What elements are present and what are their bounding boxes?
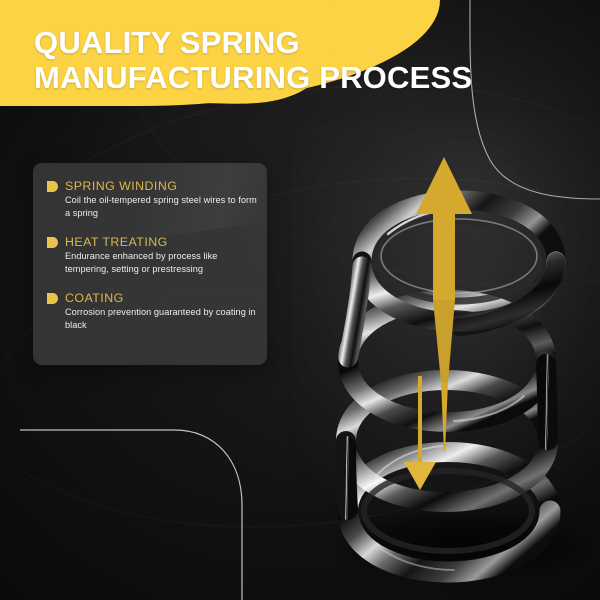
feature-heading-row: HEAT TREATING: [47, 235, 257, 249]
list-item[interactable]: SPRING WINDING Coil the oil-tempered spr…: [47, 179, 257, 220]
coil-spring-graphic: [318, 96, 600, 586]
feature-title: HEAT TREATING: [65, 235, 168, 249]
feature-heading-row: COATING: [47, 291, 257, 305]
bullet-marker-icon: [47, 293, 58, 304]
infographic-poster: QUALITY SPRING MANUFACTURING PROCESS: [0, 0, 600, 600]
feature-description: Endurance enhanced by process like tempe…: [65, 250, 257, 276]
page-title: QUALITY SPRING MANUFACTURING PROCESS: [34, 26, 504, 95]
title-line-1: QUALITY SPRING: [34, 26, 504, 61]
feature-description: Coil the oil-tempered spring steel wires…: [65, 194, 257, 220]
bullet-marker-icon: [47, 237, 58, 248]
feature-description: Corrosion prevention guaranteed by coati…: [65, 306, 257, 332]
list-item[interactable]: COATING Corrosion prevention guaranteed …: [47, 291, 257, 332]
process-steps-list: SPRING WINDING Coil the oil-tempered spr…: [47, 179, 257, 332]
feature-title: COATING: [65, 291, 124, 305]
bullet-marker-icon: [47, 181, 58, 192]
title-line-2: MANUFACTURING PROCESS: [34, 61, 504, 96]
feature-title: SPRING WINDING: [65, 179, 177, 193]
process-steps-card: SPRING WINDING Coil the oil-tempered spr…: [33, 163, 267, 365]
spring-illustration: [318, 96, 600, 586]
feature-heading-row: SPRING WINDING: [47, 179, 257, 193]
list-item[interactable]: HEAT TREATING Endurance enhanced by proc…: [47, 235, 257, 276]
